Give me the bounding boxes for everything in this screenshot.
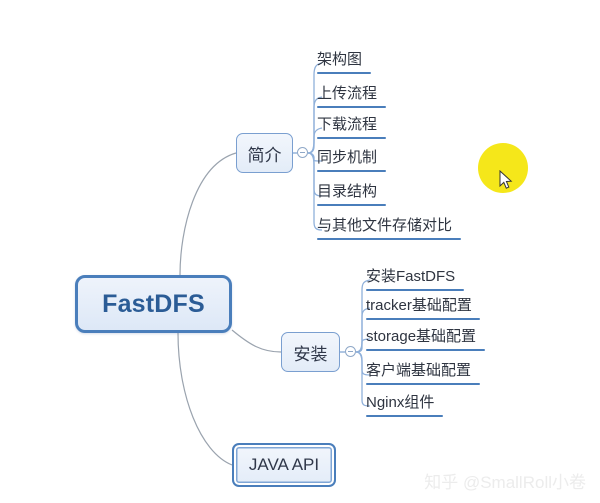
branch-node-anzhuang-label: 安装 bbox=[294, 340, 328, 365]
leaf-item[interactable]: Nginx组件 bbox=[366, 391, 443, 421]
leaf-item[interactable]: 客户端基础配置 bbox=[366, 359, 480, 389]
mindmap-canvas[interactable]: FastDFS 简介 架构图 上传流程 下载流程 同步机制 目录结构 与其他文件… bbox=[0, 0, 600, 503]
leaf-underline bbox=[317, 238, 461, 240]
leaf-item-label: 与其他文件存储对比 bbox=[317, 217, 452, 234]
leaf-item-label: 下载流程 bbox=[317, 116, 377, 133]
leaf-item[interactable]: 上传流程 bbox=[317, 82, 386, 112]
branch-node-javaapi-label: JAVA API bbox=[249, 455, 319, 475]
branch-node-jianjie[interactable]: 简介 bbox=[236, 133, 293, 173]
collapse-toggle-icon-anzhuang[interactable] bbox=[345, 346, 356, 357]
leaf-item-label: storage基础配置 bbox=[366, 328, 476, 345]
leaf-underline bbox=[317, 72, 371, 74]
leaf-underline bbox=[317, 204, 386, 206]
root-node[interactable]: FastDFS bbox=[75, 275, 232, 333]
leaf-item-label: 安装FastDFS bbox=[366, 268, 455, 285]
leaf-underline bbox=[317, 170, 386, 172]
branch-node-jianjie-label: 简介 bbox=[248, 141, 282, 166]
branch-node-javaapi[interactable]: JAVA API bbox=[232, 443, 336, 487]
leaf-underline bbox=[366, 318, 480, 320]
branch-node-anzhuang[interactable]: 安装 bbox=[281, 332, 340, 372]
collapse-toggle-icon-jianjie[interactable] bbox=[297, 147, 308, 158]
leaf-underline bbox=[366, 289, 464, 291]
leaf-item-label: Nginx组件 bbox=[366, 394, 434, 411]
connector-edges bbox=[0, 0, 600, 503]
leaf-item[interactable]: storage基础配置 bbox=[366, 325, 485, 355]
leaf-item-label: 架构图 bbox=[317, 51, 362, 68]
leaf-underline bbox=[366, 349, 485, 351]
leaf-underline bbox=[366, 415, 443, 417]
leaf-item-label: 同步机制 bbox=[317, 149, 377, 166]
leaf-item[interactable]: 安装FastDFS bbox=[366, 265, 464, 295]
leaf-item[interactable]: 目录结构 bbox=[317, 180, 386, 210]
leaf-item[interactable]: 同步机制 bbox=[317, 146, 386, 176]
leaf-item[interactable]: 架构图 bbox=[317, 48, 371, 78]
leaf-item-label: 上传流程 bbox=[317, 85, 377, 102]
leaf-underline bbox=[366, 383, 480, 385]
leaf-underline bbox=[317, 137, 386, 139]
root-node-label: FastDFS bbox=[102, 290, 205, 319]
mouse-pointer-icon bbox=[499, 170, 513, 190]
leaf-item[interactable]: tracker基础配置 bbox=[366, 294, 480, 324]
watermark: 知乎 @SmallRoll小卷 bbox=[424, 468, 586, 493]
leaf-item-label: 目录结构 bbox=[317, 183, 377, 200]
leaf-item[interactable]: 与其他文件存储对比 bbox=[317, 214, 461, 244]
leaf-item[interactable]: 下载流程 bbox=[317, 113, 386, 143]
leaf-underline bbox=[317, 106, 386, 108]
leaf-item-label: 客户端基础配置 bbox=[366, 362, 471, 379]
leaf-item-label: tracker基础配置 bbox=[366, 297, 472, 314]
